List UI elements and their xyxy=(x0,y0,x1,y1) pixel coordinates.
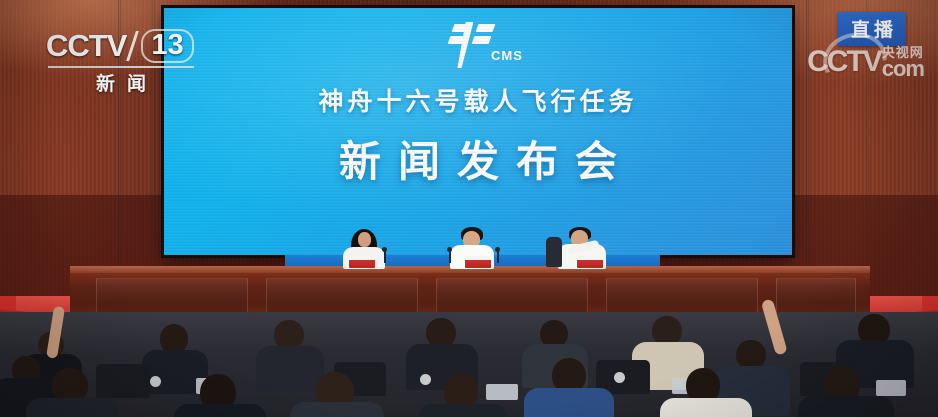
channel-number: 13 xyxy=(141,29,193,63)
audience-area xyxy=(0,312,938,417)
watermark-suffix: com xyxy=(882,59,924,79)
channel-logo: CCTV 13 新闻 xyxy=(46,28,196,96)
desk-panel-section xyxy=(606,278,758,314)
cctv-wordmark: CCTV xyxy=(46,28,126,64)
cctv-slash-icon xyxy=(127,31,140,61)
cctv-com-watermark: CCTV 央视网 com xyxy=(807,45,924,79)
broadcast-frame: CMS 神舟十六号载人飞行任务 新闻发布会 xyxy=(0,0,938,417)
channel-name-label: 新闻 xyxy=(46,69,196,96)
desk-panel-section xyxy=(776,278,856,314)
desk-panel-section xyxy=(96,278,248,314)
led-screen: CMS 神舟十六号载人飞行任务 新闻发布会 xyxy=(164,8,792,255)
cctv-underline xyxy=(48,66,194,68)
desk-panel-section xyxy=(266,278,418,314)
desk-panel-section xyxy=(436,278,588,314)
screen-scanlines xyxy=(164,8,792,255)
